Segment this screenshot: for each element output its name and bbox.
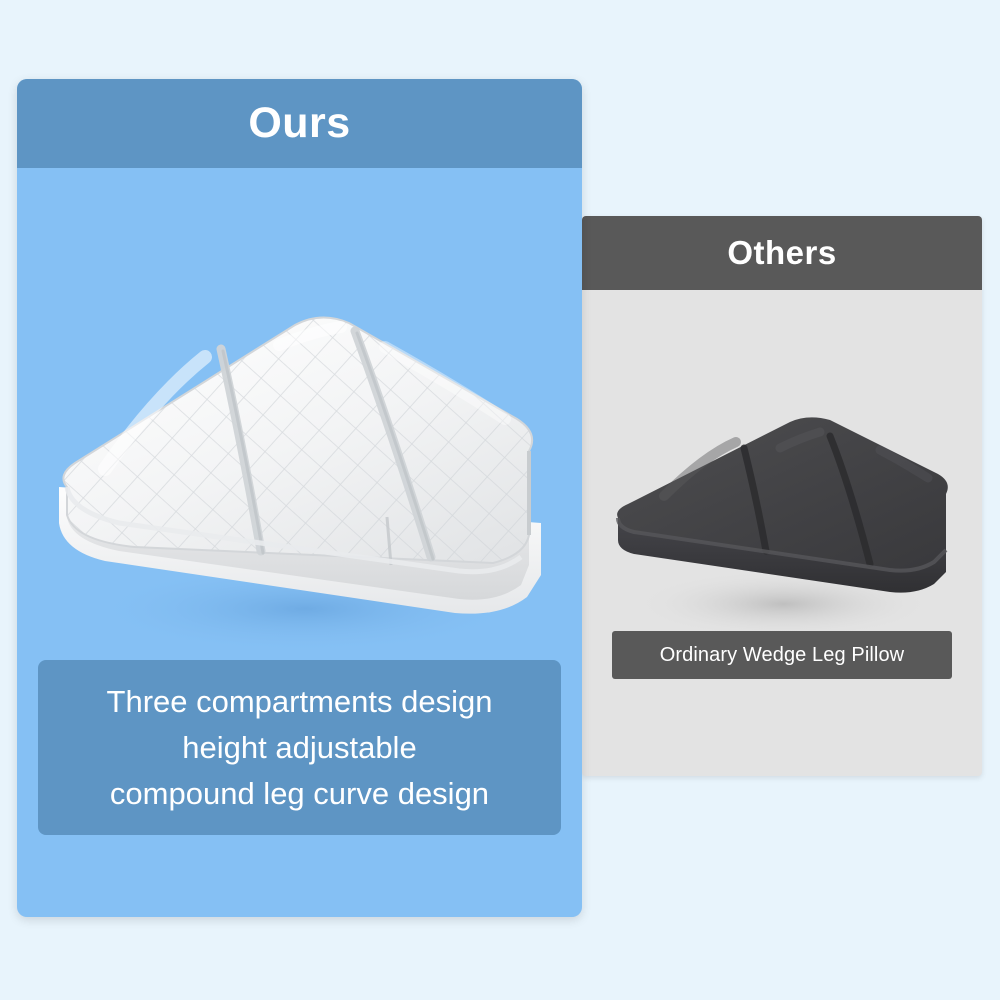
ours-caption-line-2: height adjustable xyxy=(182,725,416,771)
others-caption-banner: Ordinary Wedge Leg Pillow xyxy=(612,631,952,679)
ours-header: Ours xyxy=(17,79,582,168)
others-caption-text: Ordinary Wedge Leg Pillow xyxy=(660,644,904,667)
others-header: Others xyxy=(582,216,982,290)
ours-caption-line-3: compound leg curve design xyxy=(110,771,489,817)
others-comparison-card: Others xyxy=(582,216,982,776)
ours-title: Ours xyxy=(248,99,350,148)
others-title: Others xyxy=(727,234,836,272)
ours-product-image xyxy=(35,279,565,699)
ours-caption-banner: Three compartments design height adjusta… xyxy=(38,660,561,835)
ours-caption-line-1: Three compartments design xyxy=(107,679,493,725)
ours-comparison-card: Ours xyxy=(17,79,582,917)
